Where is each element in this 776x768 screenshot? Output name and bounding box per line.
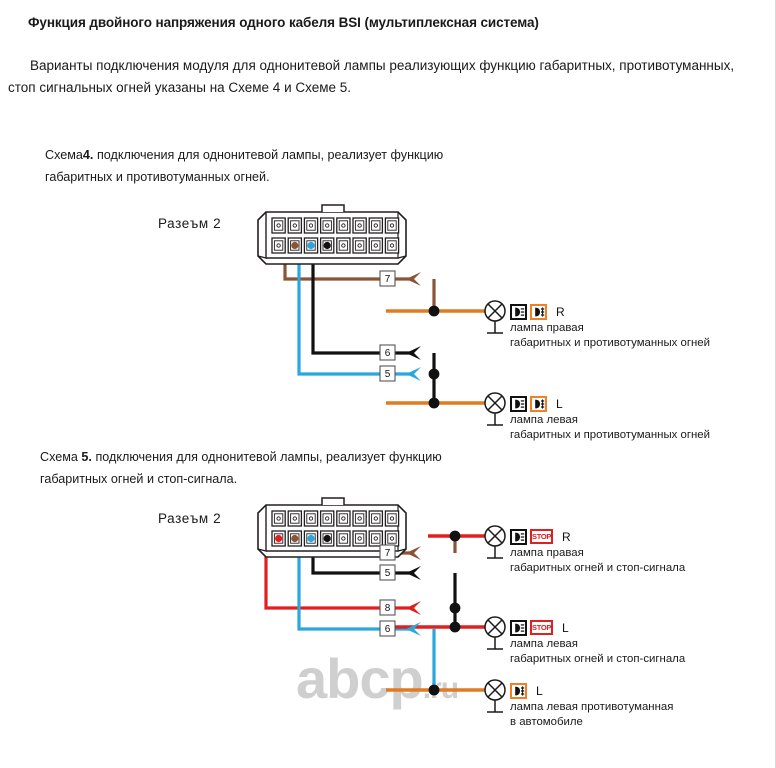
pin-number-marker: 8 [380,600,395,615]
connector-pin-empty [277,224,280,227]
connector-pin-empty [342,537,345,540]
connector-pin-empty [390,224,393,227]
lamp-side-letter: L [562,621,569,635]
connector-pin-wired [292,535,298,541]
connector-pin-empty [390,517,393,520]
lamp-side-letter: L [556,397,563,411]
connector-pin-empty [342,517,345,520]
connector-pin-empty [277,517,280,520]
connector-pin-wired [324,242,330,248]
lamp-glyphs [485,301,505,712]
connector-pin-wired [276,535,282,541]
junction-dot [429,685,440,696]
connector-pin-empty [358,224,361,227]
junction-dot [429,306,440,317]
fog-light-icon [530,396,547,412]
lamp-icons: L [510,395,710,412]
junction-dot [429,369,440,380]
pin-number-label: 5 [385,369,391,380]
connector-pin-empty [374,244,377,247]
lamp-label-s5-left: STOP L лампа левая габаритных огней и ст… [510,619,685,667]
connector-pin-empty [358,537,361,540]
lamp-side-letter: L [536,684,543,698]
connector-pin-empty [390,537,393,540]
connector-pin-wired [292,242,298,248]
junction-dot [450,622,461,633]
pin-number-marker: 6 [380,621,395,636]
connector-pin-empty [309,224,312,227]
pin-number-marker: 7 [380,545,395,560]
junction-dot [450,531,461,542]
parking-light-icon [510,396,527,412]
connector-pin-empty [374,537,377,540]
pin-number-marker: 6 [380,345,395,360]
connector-pin-empty [326,517,329,520]
pin-number-label: 6 [385,624,391,635]
lamp-caption-line1: лампа правая [510,547,584,559]
lamp-caption-line1: лампа левая противотуманная [510,701,673,713]
lamp-caption-line2: в автомобиле [510,716,583,728]
document-page: Функция двойного напряжения одного кабел… [0,0,776,768]
lamp-caption-line2: габаритных и противотуманных огней [510,337,710,349]
connector-pin-empty [358,517,361,520]
lamp-caption-line2: габаритных огней и стоп-сигнала [510,653,685,665]
connector-pin-wired [308,242,314,248]
scheme-4-wiring [285,243,489,408]
lamp-caption-line1: лампа правая [510,322,584,334]
pin-number-label: 7 [385,274,391,285]
pin-number-marker: 5 [380,366,395,381]
connector-scheme-4 [258,205,406,264]
pin-number-marker: 7 [380,271,395,286]
connector-pin-empty [293,517,296,520]
connector-pin-empty [326,224,329,227]
lamp-icons: STOP L [510,619,685,636]
connector-pin-empty [342,244,345,247]
fog-light-icon [510,683,527,699]
lamp-icons: STOP R [510,528,685,545]
lamp-label-s4-right: R лампа правая габаритных и противотуман… [510,303,710,351]
lamp-symbol [485,393,505,425]
lamp-label-s5-right: STOP R лампа правая габаритных огней и с… [510,528,685,576]
connector-pin-empty [293,224,296,227]
stop-lamp-badge: STOP [530,620,553,635]
lamp-caption-line2: габаритных и противотуманных огней [510,429,710,441]
parking-light-icon [510,304,527,320]
pin-number-label: 8 [385,603,391,614]
connector-pin-empty [390,244,393,247]
pin-number-marker: 5 [380,565,395,580]
pin-number-label: 5 [385,568,391,579]
junction-dot [450,603,461,614]
lamp-icons: R [510,303,710,320]
connector-pin-empty [342,224,345,227]
stop-lamp-badge: STOP [530,529,553,544]
lamp-label-s4-left: L лампа левая габаритных и противотуманн… [510,395,710,443]
connector-pin-empty [374,517,377,520]
parking-light-icon [510,620,527,636]
pin-number-label: 7 [385,548,391,559]
lamp-label-s5-fog: L лампа левая противотуманная в автомоби… [510,682,673,730]
lamp-symbol [485,526,505,558]
connector-pin-empty [309,517,312,520]
lamp-caption-line2: габаритных огней и стоп-сигнала [510,562,685,574]
lamp-symbol [485,617,505,649]
lamp-caption-line1: лампа левая [510,414,578,426]
lamp-side-letter: R [556,305,565,319]
connector-pin-empty [277,244,280,247]
lamp-symbol [485,301,505,333]
parking-light-icon [510,529,527,545]
connector-pin-empty [374,224,377,227]
fog-light-icon [530,304,547,320]
junction-dot [429,398,440,409]
connector-pin-wired [324,535,330,541]
lamp-symbol [485,680,505,712]
connector-pin-wired [308,535,314,541]
pin-number-label: 6 [385,348,391,359]
lamp-side-letter: R [562,530,571,544]
lamp-caption-line1: лампа левая [510,638,578,650]
connector-pin-empty [358,244,361,247]
lamp-icons: L [510,682,673,699]
